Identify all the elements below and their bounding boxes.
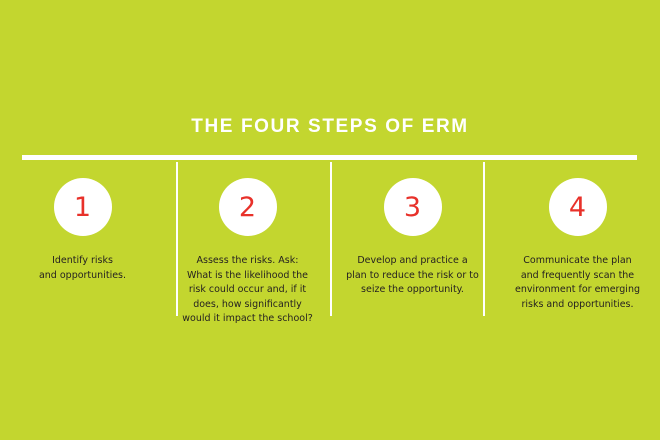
step-number-2: 2	[239, 194, 256, 221]
step-text-line: Assess the risks. Ask:	[175, 254, 321, 269]
step-text-line: would it impact the school?	[175, 312, 321, 327]
infographic-canvas: THE FOUR STEPS OF ERM 1 Identify risks a…	[0, 0, 660, 440]
page-title: THE FOUR STEPS OF ERM	[0, 115, 660, 139]
step-text-line: seize the opportunity.	[340, 283, 486, 298]
step-text-line: Communicate the plan	[505, 254, 651, 269]
step-text-line: environment for emerging	[505, 283, 651, 298]
step-description-2: Assess the risks. Ask: What is the likel…	[175, 254, 321, 327]
step-text-line: and opportunities.	[10, 269, 156, 284]
title-underline-rule	[22, 155, 637, 160]
step-number-4: 4	[569, 194, 586, 221]
step-text-line: risk could occur and, if it	[175, 283, 321, 298]
step-description-4: Communicate the plan and frequently scan…	[505, 254, 651, 312]
step-badge-2: 2	[219, 178, 277, 236]
step-text-line: Identify risks	[10, 254, 156, 269]
step-text-line: Develop and practice a	[340, 254, 486, 269]
step-column-2: 2 Assess the risks. Ask: What is the lik…	[165, 178, 330, 327]
step-column-1: 1 Identify risks and opportunities.	[0, 178, 165, 283]
step-text-line: does, how significantly	[175, 298, 321, 313]
step-description-1: Identify risks and opportunities.	[10, 254, 156, 283]
step-badge-4: 4	[549, 178, 607, 236]
step-text-line: risks and opportunities.	[505, 298, 651, 313]
step-column-3: 3 Develop and practice a plan to reduce …	[330, 178, 495, 298]
step-number-3: 3	[404, 194, 421, 221]
step-text-line: and frequently scan the	[505, 269, 651, 284]
step-description-3: Develop and practice a plan to reduce th…	[340, 254, 486, 298]
step-column-4: 4 Communicate the plan and frequently sc…	[495, 178, 660, 312]
step-number-1: 1	[74, 194, 91, 221]
step-text-line: plan to reduce the risk or to	[340, 269, 486, 284]
step-badge-1: 1	[54, 178, 112, 236]
step-badge-3: 3	[384, 178, 442, 236]
steps-row: 1 Identify risks and opportunities. 2 As…	[0, 178, 660, 327]
step-text-line: What is the likelihood the	[175, 269, 321, 284]
